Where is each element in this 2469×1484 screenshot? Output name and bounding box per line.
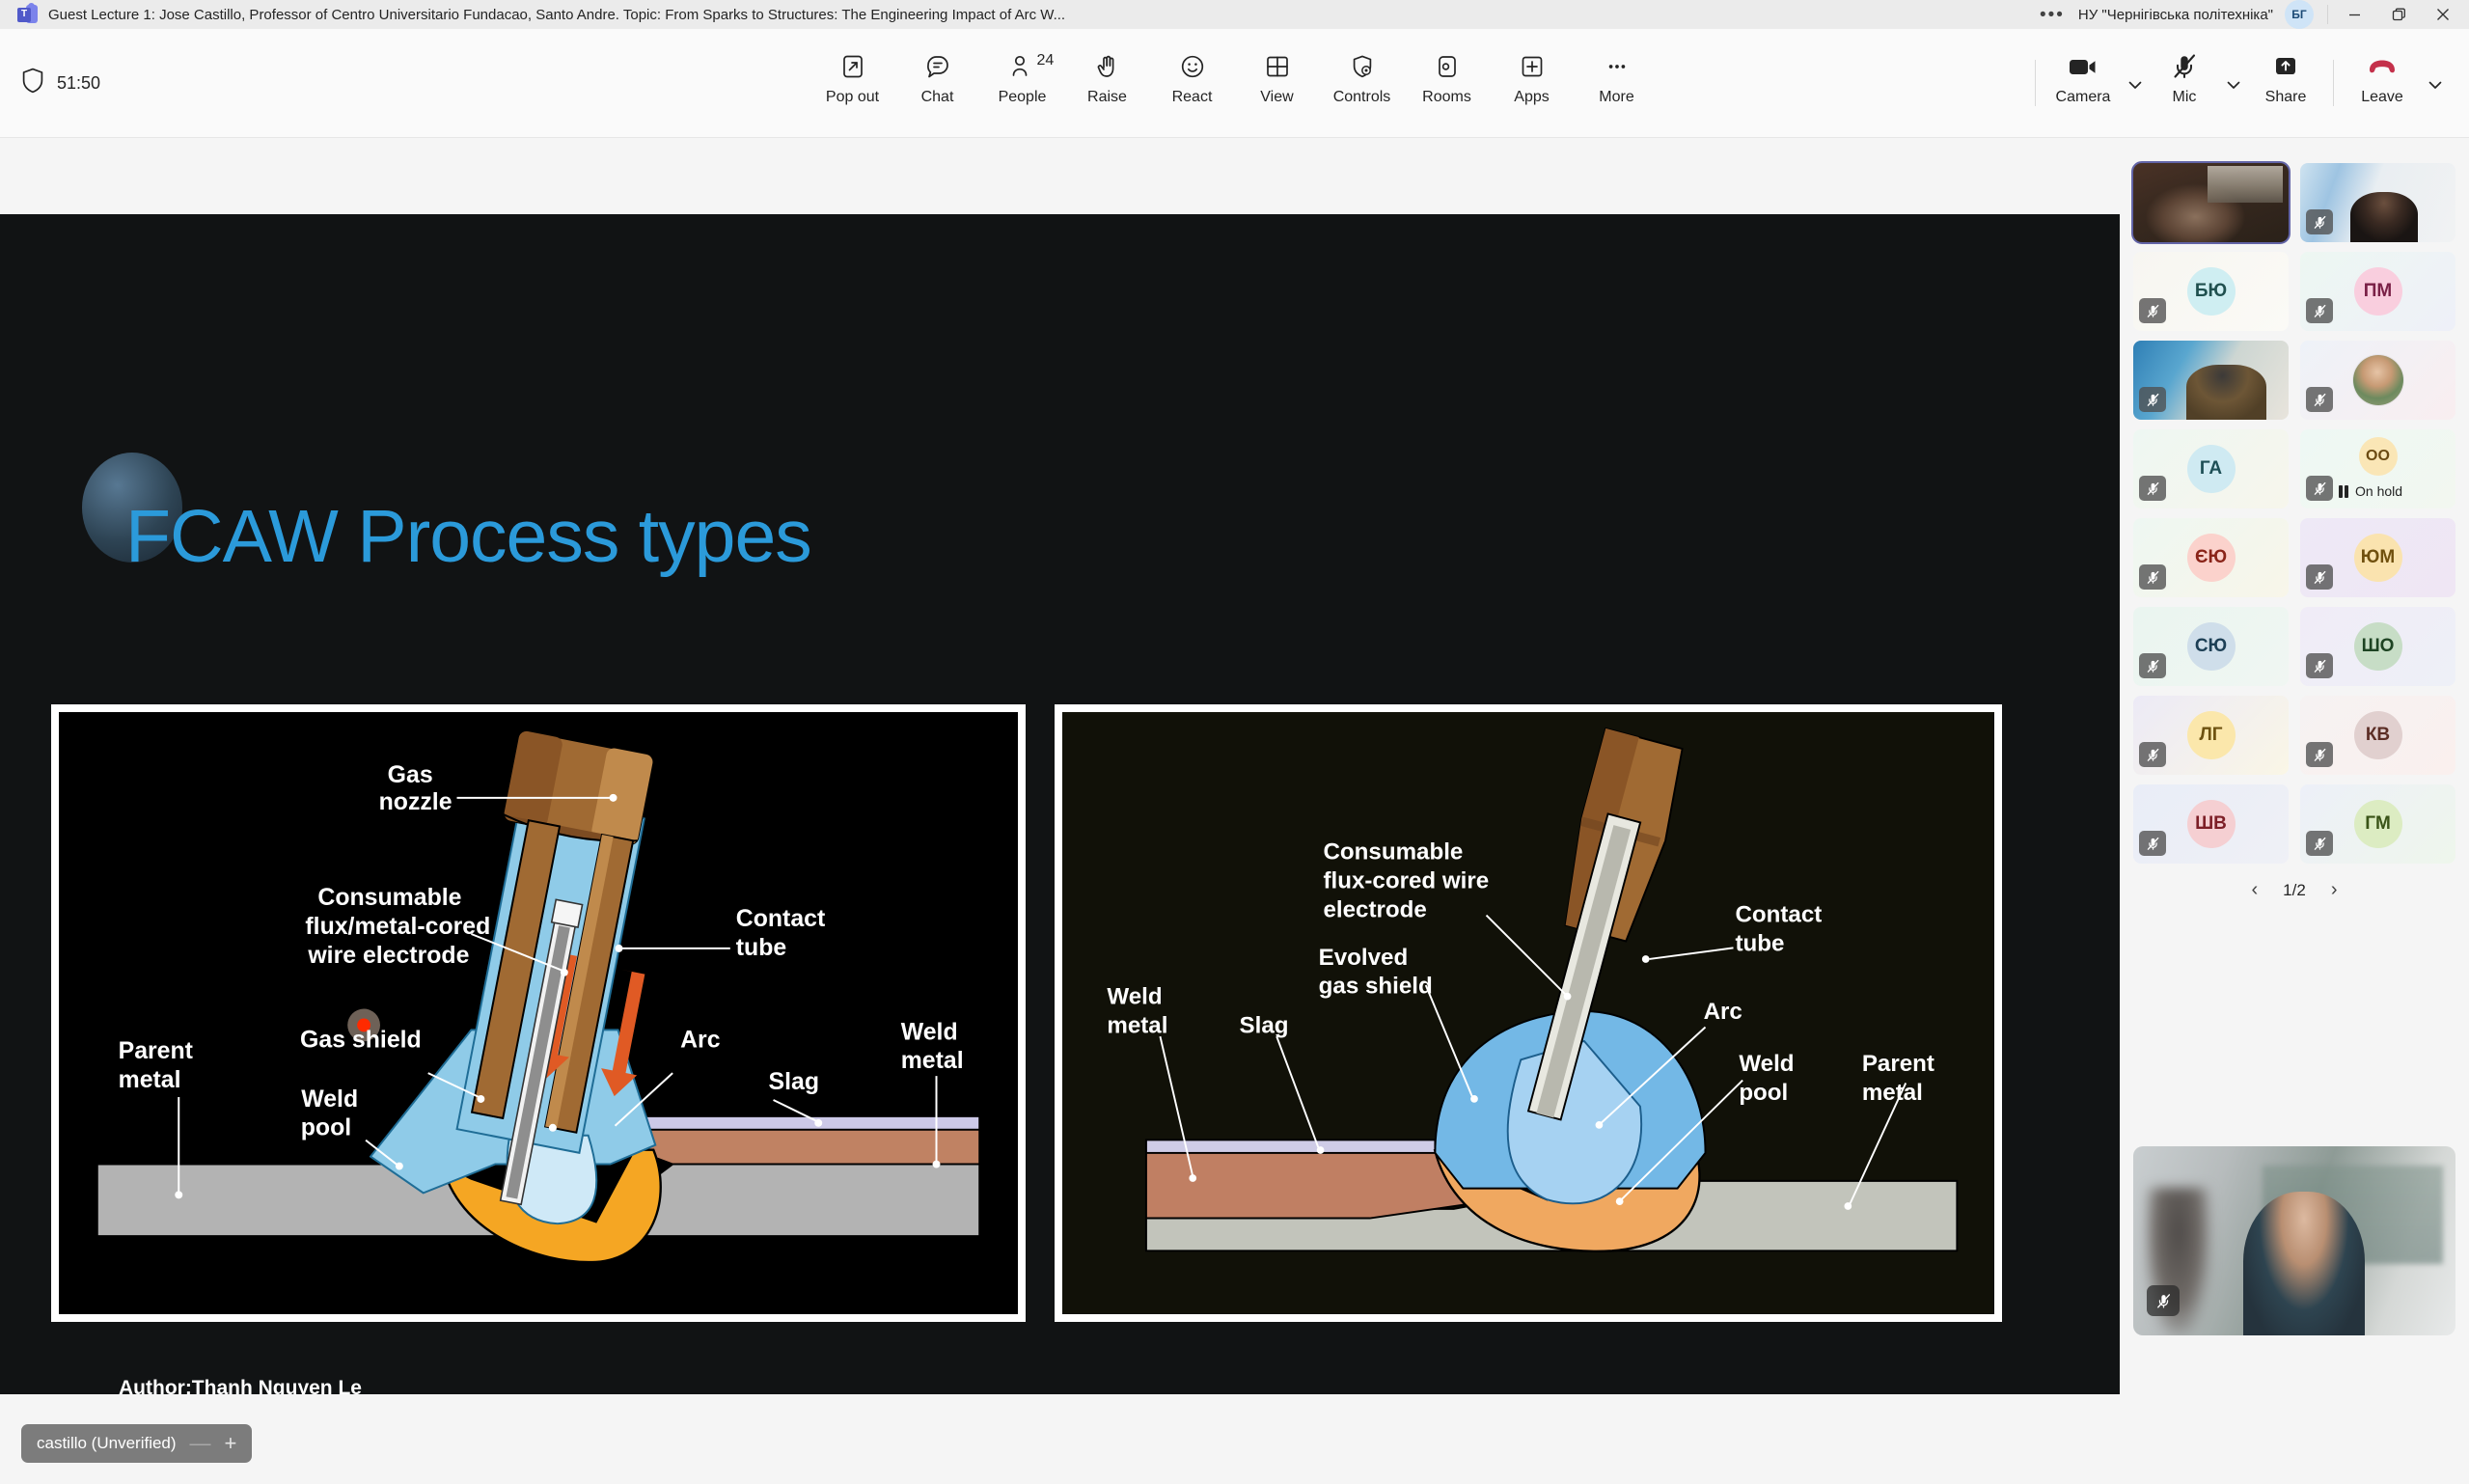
label-electrode-line1: Consumable: [1323, 839, 1463, 866]
label-weld-pool-line2: pool: [301, 1115, 351, 1141]
camera-chevron-down-icon[interactable]: [2119, 48, 2152, 118]
participant-roster-panel: БЮ ПМ ГА ОО On holdЄЮ ЮМ СЮ ШО ЛГ КВ ШВ …: [2120, 138, 2469, 1484]
camera-button[interactable]: Camera: [2047, 48, 2119, 118]
label-weld-metal-line1: Weld: [1107, 983, 1162, 1009]
label-slag: Slag: [769, 1069, 819, 1095]
participant-tile[interactable]: КВ: [2300, 696, 2455, 775]
status-text: On hold: [2355, 483, 2402, 499]
slide-title-group: FCAW Process types: [125, 494, 811, 580]
figure-gas-shielded-fcaw: Gas nozzle Consumable flux/metal-cored w…: [51, 704, 1026, 1322]
more-label: More: [1599, 89, 1633, 106]
react-smiley-icon: [1178, 50, 1207, 83]
teams-logo-icon: T: [17, 4, 39, 25]
participant-avatar: ЮМ: [2354, 534, 2402, 582]
meeting-timer-group: 51:50: [21, 68, 100, 98]
label-weld-metal-line1: Weld: [901, 1019, 958, 1045]
titlebar-overflow-button[interactable]: •••: [2026, 6, 2078, 24]
mic-off-icon: [2139, 742, 2166, 767]
mic-off-icon: [2306, 653, 2333, 678]
share-button[interactable]: Share: [2250, 48, 2321, 118]
participant-tile[interactable]: БЮ: [2133, 252, 2289, 331]
label-electrode-line2: flux-cored wire: [1323, 868, 1489, 894]
share-up-arrow-icon: [2272, 50, 2299, 83]
label-evolved-line1: Evolved: [1319, 945, 1409, 971]
mic-off-icon: [2139, 564, 2166, 590]
organization-name: НУ "Чернігівська політехніка": [2078, 7, 2285, 23]
people-button[interactable]: 24 People: [980, 48, 1065, 118]
roster-pager: ‹ 1/2 ›: [2133, 879, 2455, 901]
view-grid-icon: [1263, 50, 1292, 83]
label-arc: Arc: [1704, 999, 1742, 1025]
more-button[interactable]: More: [1575, 48, 1660, 118]
titlebar-divider: [2327, 5, 2328, 24]
raise-hand-button[interactable]: Raise: [1065, 48, 1150, 118]
participant-avatar: ПМ: [2354, 267, 2402, 316]
label-weld-pool-line1: Weld: [301, 1086, 358, 1113]
label-parent-metal-line1: Parent: [119, 1038, 193, 1064]
breakout-rooms-icon: [1433, 50, 1462, 83]
participant-tile[interactable]: ЮМ: [2300, 518, 2455, 597]
slide-caption: Author:Thanh Nguyen Le Vung Tau, Viet Na…: [119, 1377, 362, 1394]
apps-button[interactable]: Apps: [1490, 48, 1575, 118]
view-button[interactable]: View: [1235, 48, 1320, 118]
leave-button[interactable]: Leave: [2346, 48, 2419, 118]
label-gas-nozzle-line2: nozzle: [379, 789, 453, 815]
label-weld-pool-line2: pool: [1739, 1080, 1788, 1106]
apps-plus-icon: [1518, 50, 1547, 83]
shield-icon: [21, 68, 44, 98]
mic-label: Mic: [2173, 89, 2197, 106]
participant-photo-avatar: [2353, 355, 2403, 405]
participant-tile[interactable]: ШВ: [2133, 784, 2289, 864]
participant-avatar: ЛГ: [2187, 711, 2236, 759]
people-label: People: [999, 89, 1047, 106]
close-button[interactable]: [2421, 0, 2465, 29]
more-dots-icon: [1603, 50, 1632, 83]
participant-tile[interactable]: ЛГ: [2133, 696, 2289, 775]
label-contact-tube-line2: tube: [1735, 930, 1784, 956]
controls-button[interactable]: Controls: [1320, 48, 1405, 118]
controls-shield-gear-icon: [1348, 50, 1377, 83]
label-gas-nozzle-line1: Gas: [388, 762, 433, 788]
label-gas-shield: Gas shield: [300, 1027, 422, 1053]
mic-off-icon: [2306, 476, 2333, 501]
toolbar-divider-right: [2333, 60, 2334, 106]
participant-tile[interactable]: [2300, 341, 2455, 420]
mic-off-icon: [2306, 209, 2333, 234]
participant-tile[interactable]: ГМ: [2300, 784, 2455, 864]
mic-off-icon: [2139, 298, 2166, 323]
window-title: Guest Lecture 1: Jose Castillo, Professo…: [48, 7, 1065, 23]
self-view-tile[interactable]: [2133, 1146, 2455, 1335]
gas-shielded-fcaw-svg: Gas nozzle Consumable flux/metal-cored w…: [59, 712, 1018, 1314]
react-label: React: [1172, 89, 1213, 106]
minimize-button[interactable]: [2332, 0, 2376, 29]
chat-label: Chat: [921, 89, 954, 106]
meeting-timer: 51:50: [57, 73, 100, 94]
restore-button[interactable]: [2376, 0, 2421, 29]
participant-avatar: ШО: [2354, 622, 2402, 671]
participant-tile[interactable]: ГА: [2133, 429, 2289, 508]
raise-label: Raise: [1087, 89, 1127, 106]
participant-avatar: СЮ: [2187, 622, 2236, 671]
annotation-presenter-bar[interactable]: castillo (Unverified) — +: [21, 1424, 252, 1463]
label-electrode-line3: wire electrode: [307, 943, 469, 969]
self-shielded-fcaw-svg: Consumable flux-cored wire electrode Evo…: [1062, 712, 1994, 1314]
rooms-label: Rooms: [1422, 89, 1471, 106]
label-slag: Slag: [1240, 1012, 1289, 1038]
label-contact-tube-line2: tube: [736, 935, 786, 961]
chat-icon: [923, 50, 952, 83]
mic-off-icon: [2170, 50, 2199, 83]
people-icon: 24: [1008, 50, 1037, 83]
label-weld-pool-line1: Weld: [1739, 1051, 1794, 1077]
participant-tile[interactable]: ПМ: [2300, 252, 2455, 331]
label-evolved-line2: gas shield: [1319, 974, 1433, 1000]
mic-off-icon: [2306, 564, 2333, 590]
mic-off-icon: [2306, 831, 2333, 856]
slide-title: FCAW Process types: [125, 494, 811, 580]
mic-off-icon: [2306, 298, 2333, 323]
participant-status-badge: On hold: [2339, 483, 2402, 499]
account-avatar[interactable]: БГ: [2285, 0, 2314, 29]
people-count-badge: 24: [1037, 52, 1055, 69]
participant-avatar: ГМ: [2354, 800, 2402, 848]
label-contact-tube-line1: Contact: [1735, 901, 1822, 927]
label-parent-metal-line2: metal: [1862, 1080, 1923, 1106]
label-parent-metal-line2: metal: [119, 1067, 181, 1093]
label-electrode-line1: Consumable: [317, 885, 461, 911]
toolbar-divider-left: [2035, 60, 2036, 106]
pop-out-button[interactable]: Pop out: [810, 48, 895, 118]
mic-off-icon: [2306, 742, 2333, 767]
mic-off-icon: [2139, 653, 2166, 678]
share-label: Share: [2265, 89, 2307, 106]
participant-grid: БЮ ПМ ГА ОО On holdЄЮ ЮМ СЮ ШО ЛГ КВ ШВ …: [2133, 163, 2455, 864]
participant-avatar: ЄЮ: [2187, 534, 2236, 582]
slide-author: Author:Thanh Nguyen Le: [119, 1377, 362, 1394]
camera-icon: [2068, 50, 2099, 83]
apps-label: Apps: [1514, 89, 1549, 106]
label-electrode-line2: flux/metal-cored: [305, 914, 490, 940]
roster-page-indicator: 1/2: [2283, 881, 2306, 900]
mic-off-icon: [2306, 387, 2333, 412]
self-view-mic-off-icon: [2147, 1285, 2180, 1316]
participant-tile[interactable]: ЄЮ: [2133, 518, 2289, 597]
toolbar-main-actions: Pop out Chat 24 People: [810, 48, 1660, 118]
meeting-toolbar: 51:50 Pop out Chat: [0, 29, 2469, 138]
participant-avatar: ОО: [2359, 437, 2398, 476]
label-arc: Arc: [680, 1027, 721, 1053]
zoom-in-button[interactable]: +: [225, 1433, 237, 1454]
raise-hand-icon: [1093, 50, 1122, 83]
hang-up-icon: [2366, 50, 2399, 83]
participant-video: [2133, 163, 2289, 242]
mic-off-icon: [2139, 831, 2166, 856]
react-button[interactable]: React: [1150, 48, 1235, 118]
pop-out-icon: [838, 50, 867, 83]
mic-off-icon: [2139, 387, 2166, 412]
roster-next-button[interactable]: ›: [2331, 879, 2338, 901]
pause-icon: [2339, 485, 2348, 498]
participant-tile[interactable]: ОО On hold: [2300, 429, 2455, 508]
shared-slide[interactable]: FCAW Process types: [0, 214, 2120, 1394]
participant-avatar: КВ: [2354, 711, 2402, 759]
participant-tile[interactable]: [2300, 163, 2455, 242]
presenter-name-label: castillo (Unverified): [37, 1434, 177, 1453]
view-label: View: [1260, 89, 1293, 106]
roster-prev-button[interactable]: ‹: [2252, 879, 2259, 901]
chat-button[interactable]: Chat: [895, 48, 980, 118]
pop-out-label: Pop out: [826, 89, 879, 106]
participant-tile[interactable]: СЮ: [2133, 607, 2289, 686]
leave-chevron-down-icon[interactable]: [2419, 48, 2452, 118]
leave-label: Leave: [2361, 89, 2403, 106]
label-parent-metal-line1: Parent: [1862, 1051, 1934, 1077]
participant-tile[interactable]: ШО: [2300, 607, 2455, 686]
self-view-person: [2243, 1192, 2366, 1335]
rooms-button[interactable]: Rooms: [1405, 48, 1490, 118]
participant-tile[interactable]: [2133, 341, 2289, 420]
slide-figures: Gas nozzle Consumable flux/metal-cored w…: [51, 704, 2002, 1322]
participant-avatar: ГА: [2187, 445, 2236, 493]
participant-avatar: БЮ: [2187, 267, 2236, 316]
figure-self-shielded-fcaw: Consumable flux-cored wire electrode Evo…: [1055, 704, 2002, 1322]
mic-button[interactable]: Mic: [2152, 48, 2217, 118]
zoom-out-button[interactable]: —: [190, 1433, 211, 1454]
mic-off-icon: [2139, 476, 2166, 501]
label-contact-tube-line1: Contact: [736, 906, 825, 932]
label-electrode-line3: electrode: [1323, 897, 1426, 923]
label-weld-metal-line2: metal: [1107, 1012, 1167, 1038]
toolbar-media-actions: Camera Mic: [2023, 48, 2452, 118]
mic-chevron-down-icon[interactable]: [2217, 48, 2250, 118]
presentation-stage: FCAW Process types: [0, 138, 2120, 1484]
camera-label: Camera: [2056, 89, 2111, 106]
label-weld-metal-line2: metal: [901, 1048, 964, 1074]
controls-label: Controls: [1333, 89, 1391, 106]
window-titlebar: T Guest Lecture 1: Jose Castillo, Profes…: [0, 0, 2469, 29]
participant-tile[interactable]: [2133, 163, 2289, 242]
participant-avatar: ШВ: [2187, 800, 2236, 848]
